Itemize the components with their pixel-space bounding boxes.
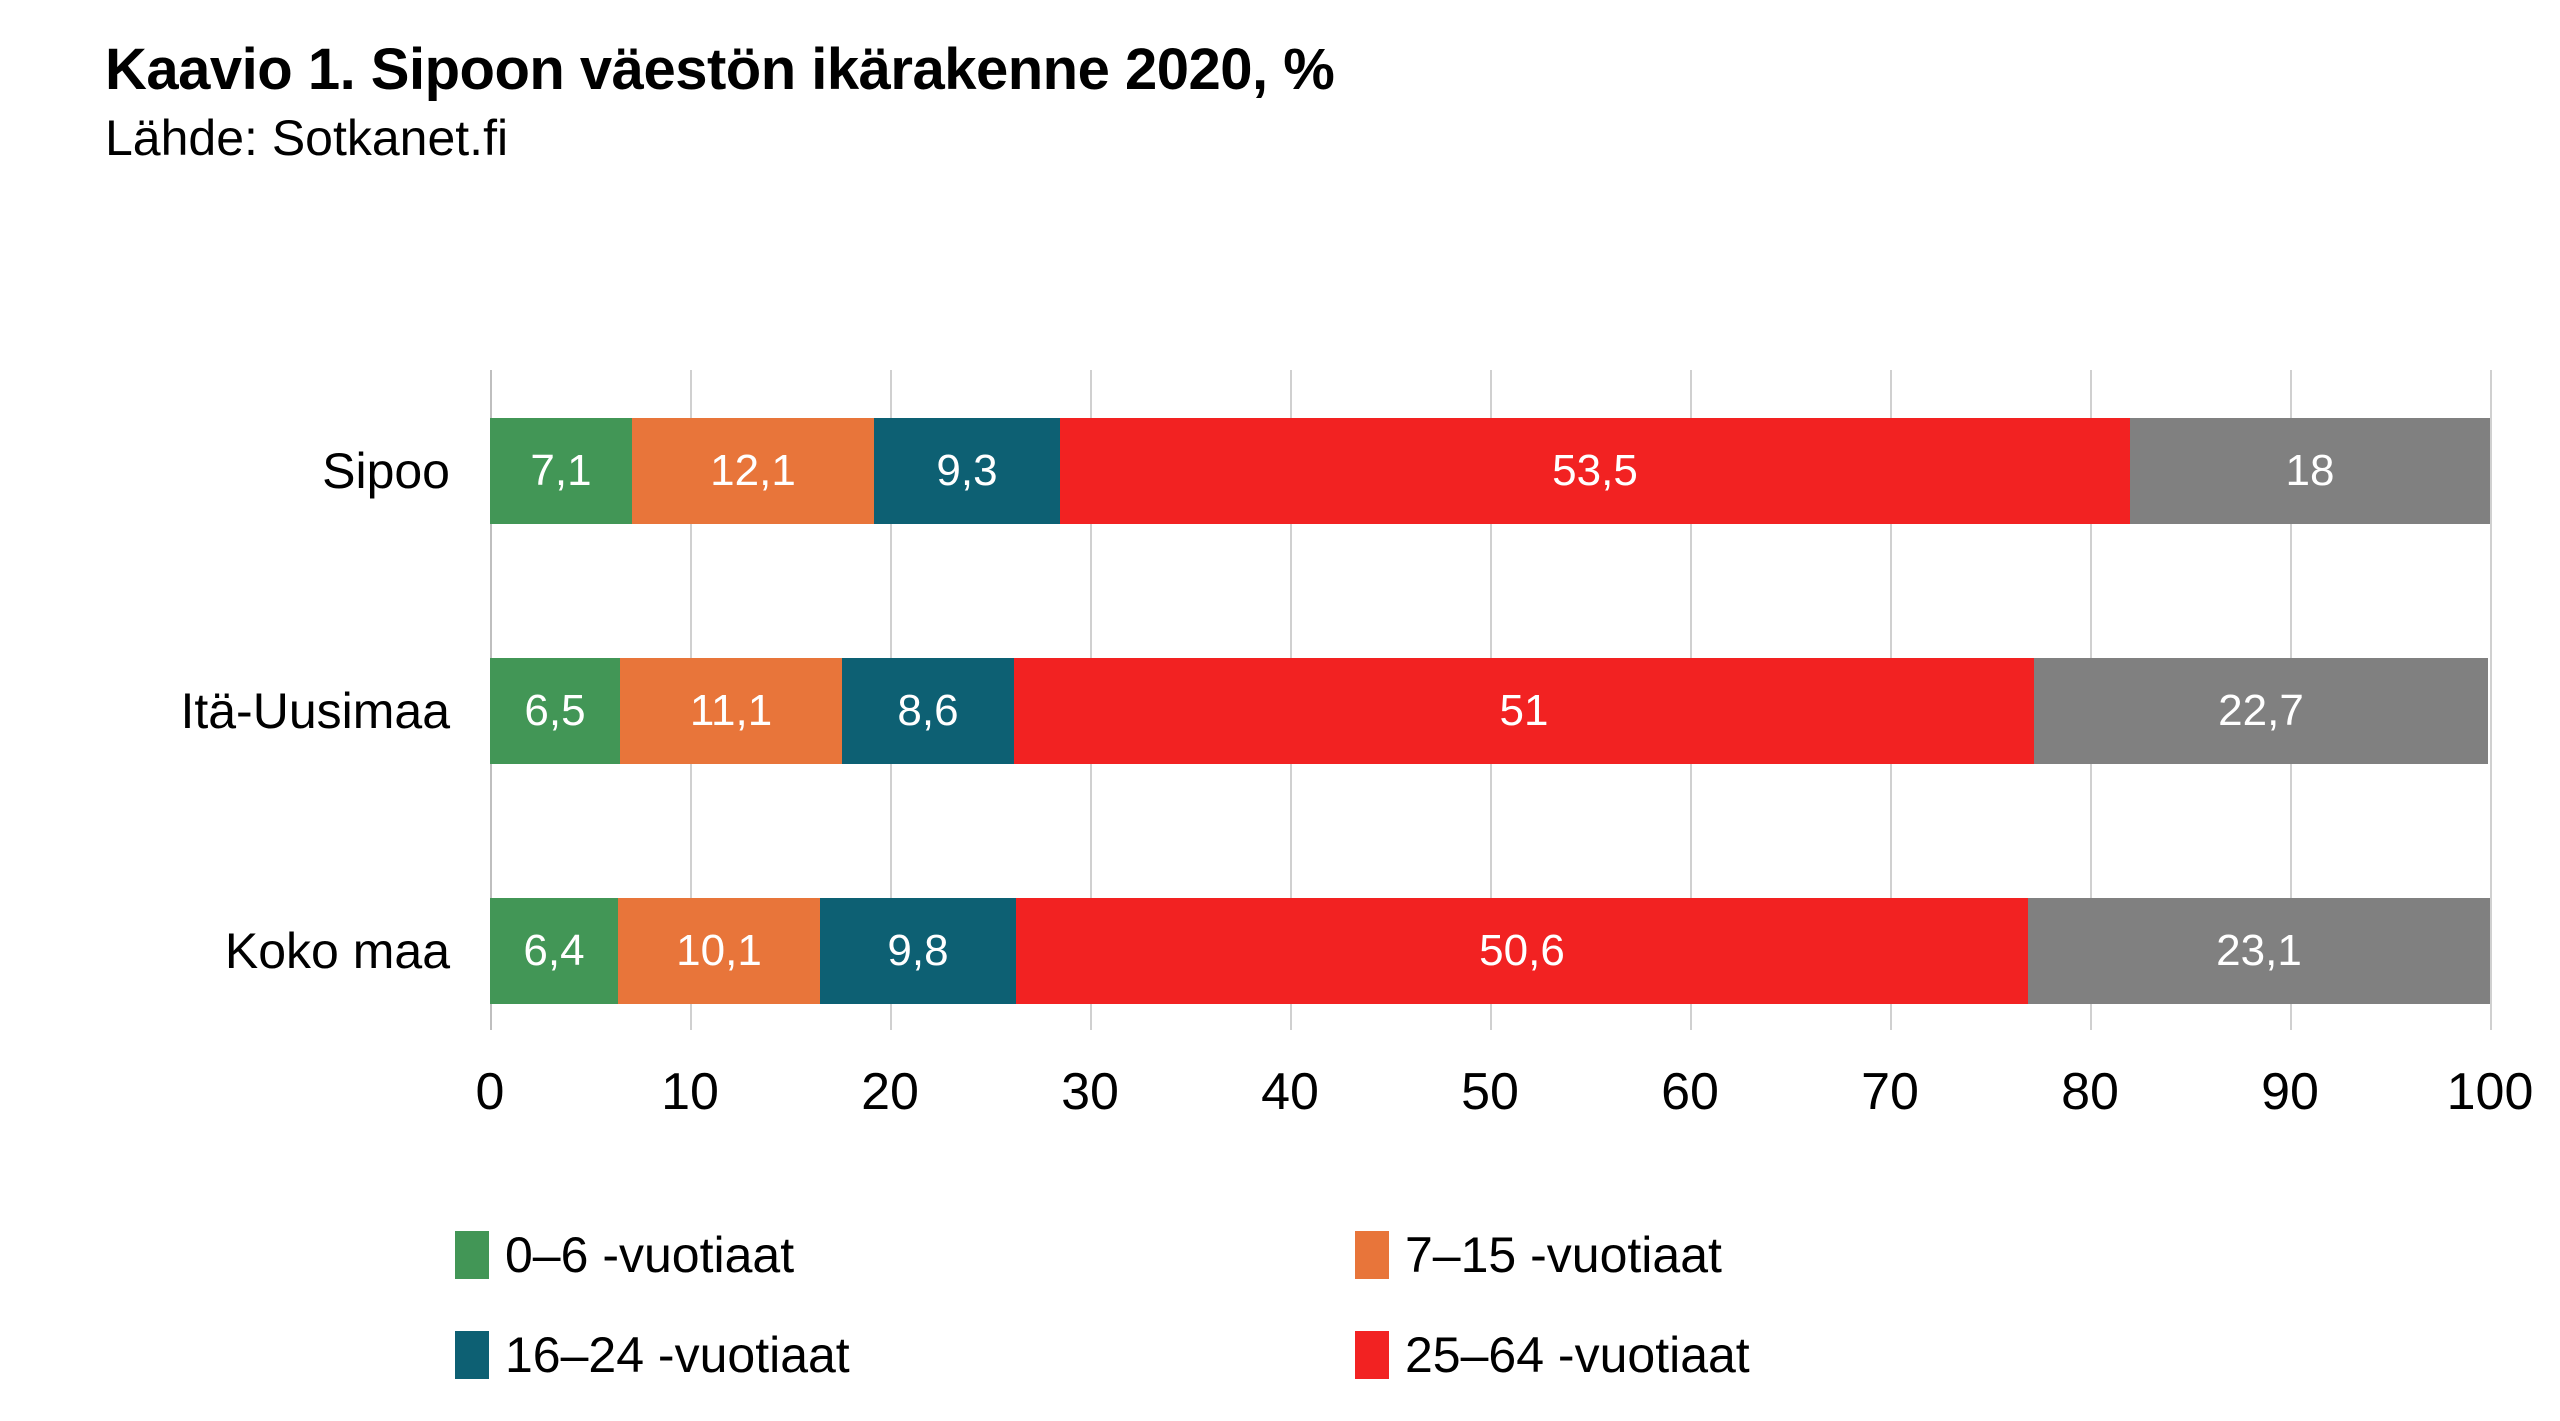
x-tick-label: 30 <box>1061 1062 1119 1122</box>
bar-row[interactable]: 6,410,19,850,623,1 <box>490 898 2490 1004</box>
category-label-sipoo: Sipoo <box>0 418 450 524</box>
x-tick-label: 70 <box>1861 1062 1919 1122</box>
legend-item[interactable]: 16–24 -vuotiaat <box>455 1305 1355 1405</box>
bar-segment[interactable]: 6,5 <box>490 658 620 764</box>
chart-legend: 0–6 -vuotiaat7–15 -vuotiaat16–24 -vuotia… <box>455 1205 2255 1405</box>
bar-row[interactable]: 7,112,19,353,518 <box>490 418 2490 524</box>
bar-segment[interactable]: 22,7 <box>2034 658 2488 764</box>
gridline <box>2490 370 2492 1030</box>
legend-item[interactable]: 25–64 -vuotiaat <box>1355 1305 2255 1405</box>
legend-item[interactable]: 0–6 -vuotiaat <box>455 1205 1355 1305</box>
x-tick-label: 10 <box>661 1062 719 1122</box>
x-tick-label: 90 <box>2261 1062 2319 1122</box>
bar-segment[interactable]: 18 <box>2130 418 2490 524</box>
legend-item[interactable]: 7–15 -vuotiaat <box>1355 1205 2255 1305</box>
bar-segment[interactable]: 8,6 <box>842 658 1014 764</box>
legend-label: 16–24 -vuotiaat <box>505 1326 850 1384</box>
legend-row: 16–24 -vuotiaat25–64 -vuotiaat <box>455 1305 2255 1405</box>
bar-segment[interactable]: 23,1 <box>2028 898 2490 1004</box>
legend-swatch-icon <box>455 1331 489 1379</box>
x-tick-label: 20 <box>861 1062 919 1122</box>
x-tick-label: 80 <box>2061 1062 2119 1122</box>
legend-label: 0–6 -vuotiaat <box>505 1226 794 1284</box>
category-label-it-uusimaa: Itä-Uusimaa <box>0 658 450 764</box>
bar-segment[interactable]: 9,3 <box>874 418 1060 524</box>
category-label-koko-maa: Koko maa <box>0 898 450 1004</box>
bar-segment[interactable]: 9,8 <box>820 898 1016 1004</box>
bar-row[interactable]: 6,511,18,65122,7 <box>490 658 2490 764</box>
bar-segment[interactable]: 6,4 <box>490 898 618 1004</box>
x-tick-label: 40 <box>1261 1062 1319 1122</box>
x-tick-label: 50 <box>1461 1062 1519 1122</box>
bar-segment[interactable]: 50,6 <box>1016 898 2028 1004</box>
legend-swatch-icon <box>455 1231 489 1279</box>
legend-row: 0–6 -vuotiaat7–15 -vuotiaat <box>455 1205 2255 1305</box>
bar-segment[interactable]: 7,1 <box>490 418 632 524</box>
page-title: Kaavio 1. Sipoon väestön ikärakenne 2020… <box>105 38 2405 103</box>
bar-segment[interactable]: 12,1 <box>632 418 874 524</box>
legend-swatch-icon <box>1355 1331 1389 1379</box>
x-tick-label: 100 <box>2447 1062 2534 1122</box>
chart-source-subtitle: Lähde: Sotkanet.fi <box>105 109 2405 168</box>
bar-segment[interactable]: 10,1 <box>618 898 820 1004</box>
x-tick-label: 60 <box>1661 1062 1719 1122</box>
bar-segment[interactable]: 53,5 <box>1060 418 2130 524</box>
bar-segment[interactable]: 11,1 <box>620 658 842 764</box>
x-axis: 0102030405060708090100 <box>490 1040 2490 1120</box>
legend-swatch-icon <box>1355 1231 1389 1279</box>
legend-label: 25–64 -vuotiaat <box>1405 1326 1750 1384</box>
chart-plot-area: 7,112,19,353,5186,511,18,65122,76,410,19… <box>490 370 2490 1030</box>
chart-header: Kaavio 1. Sipoon väestön ikärakenne 2020… <box>105 38 2405 168</box>
bar-segment[interactable]: 51 <box>1014 658 2034 764</box>
x-tick-label: 0 <box>476 1062 505 1122</box>
legend-label: 7–15 -vuotiaat <box>1405 1226 1722 1284</box>
